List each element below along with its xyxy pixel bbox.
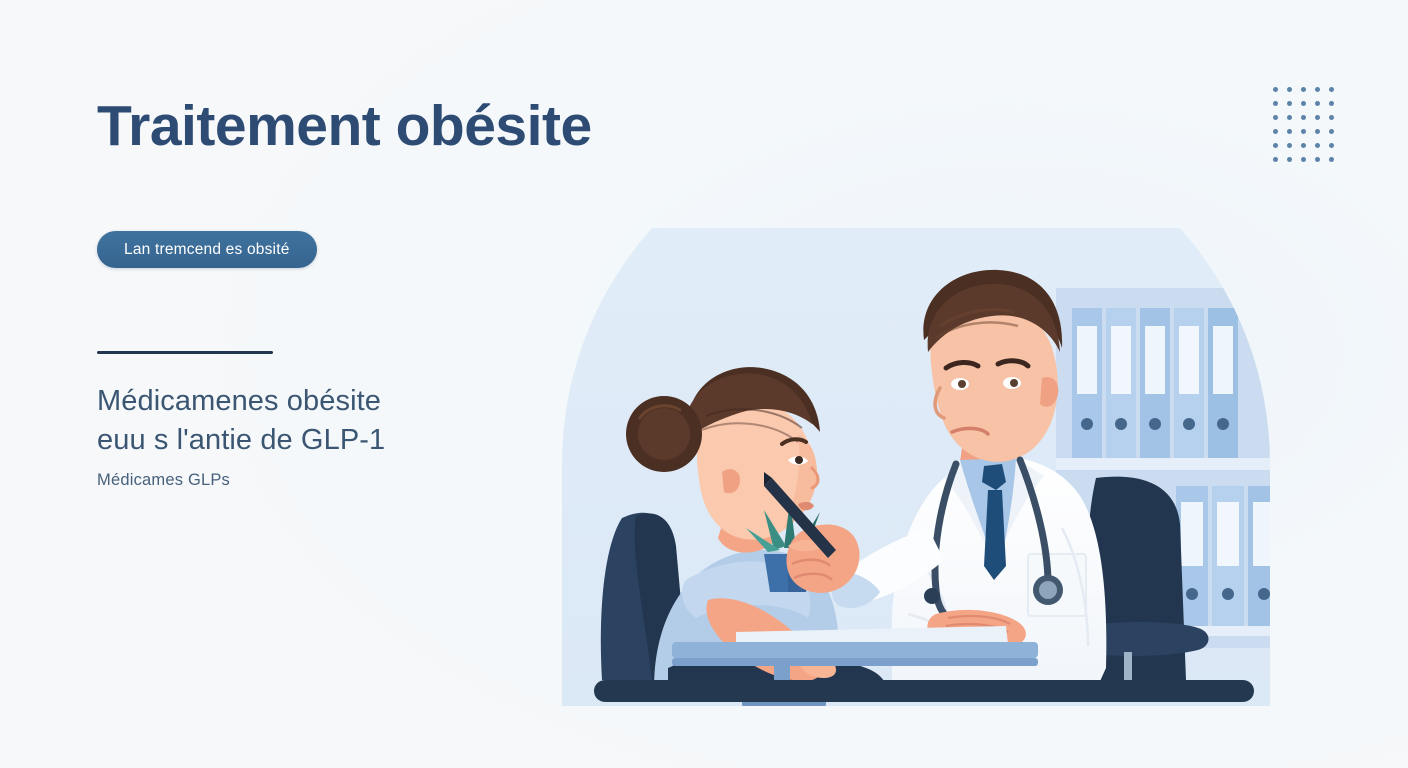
grid-dot [1287,129,1292,134]
grid-dot [1273,87,1278,92]
status-badge[interactable]: Lan tremcend es obsité [97,231,317,268]
grid-dot [1301,87,1306,92]
subhead-line-2: euu s l'antie de GLP-1 [97,421,557,460]
grid-dot [1287,115,1292,120]
divider [97,351,273,354]
grid-dot [1329,129,1334,134]
grid-dot [1315,87,1320,92]
grid-dot [1301,157,1306,162]
grid-dot [1329,87,1334,92]
grid-dot [1329,143,1334,148]
grid-dot [1301,101,1306,106]
grid-dot [1287,87,1292,92]
grid-dot [1301,143,1306,148]
grid-dot [1315,101,1320,106]
grid-dot [1301,115,1306,120]
grid-dot [1329,101,1334,106]
grid-dot [1329,157,1334,162]
grid-dot [1301,129,1306,134]
grid-dot [1329,115,1334,120]
text-column: Traitement obésite [97,96,567,158]
grid-dot [1315,143,1320,148]
floor-bar [594,680,1254,702]
subhead-line-1: Médicamenes obésite [97,382,557,421]
grid-dot [1273,115,1278,120]
grid-dot [1287,101,1292,106]
doctor-patient-consultation-illustration [536,228,1296,706]
poster-canvas: Traitement obésite Lan tremcend es obsit… [0,0,1408,768]
grid-dot [1287,157,1292,162]
grid-dot [1273,101,1278,106]
grid-dot [1273,129,1278,134]
page-title: Traitement obésite [97,96,567,158]
subcaption: Médicames GLPs [97,471,557,490]
grid-dot [1273,143,1278,148]
dot-grid-icon [1273,87,1345,171]
grid-dot [1273,157,1278,162]
grid-dot [1287,143,1292,148]
grid-dot [1315,157,1320,162]
subhead-block: Médicamenes obésite euu s l'antie de GLP… [97,382,557,490]
grid-dot [1315,129,1320,134]
grid-dot [1315,115,1320,120]
